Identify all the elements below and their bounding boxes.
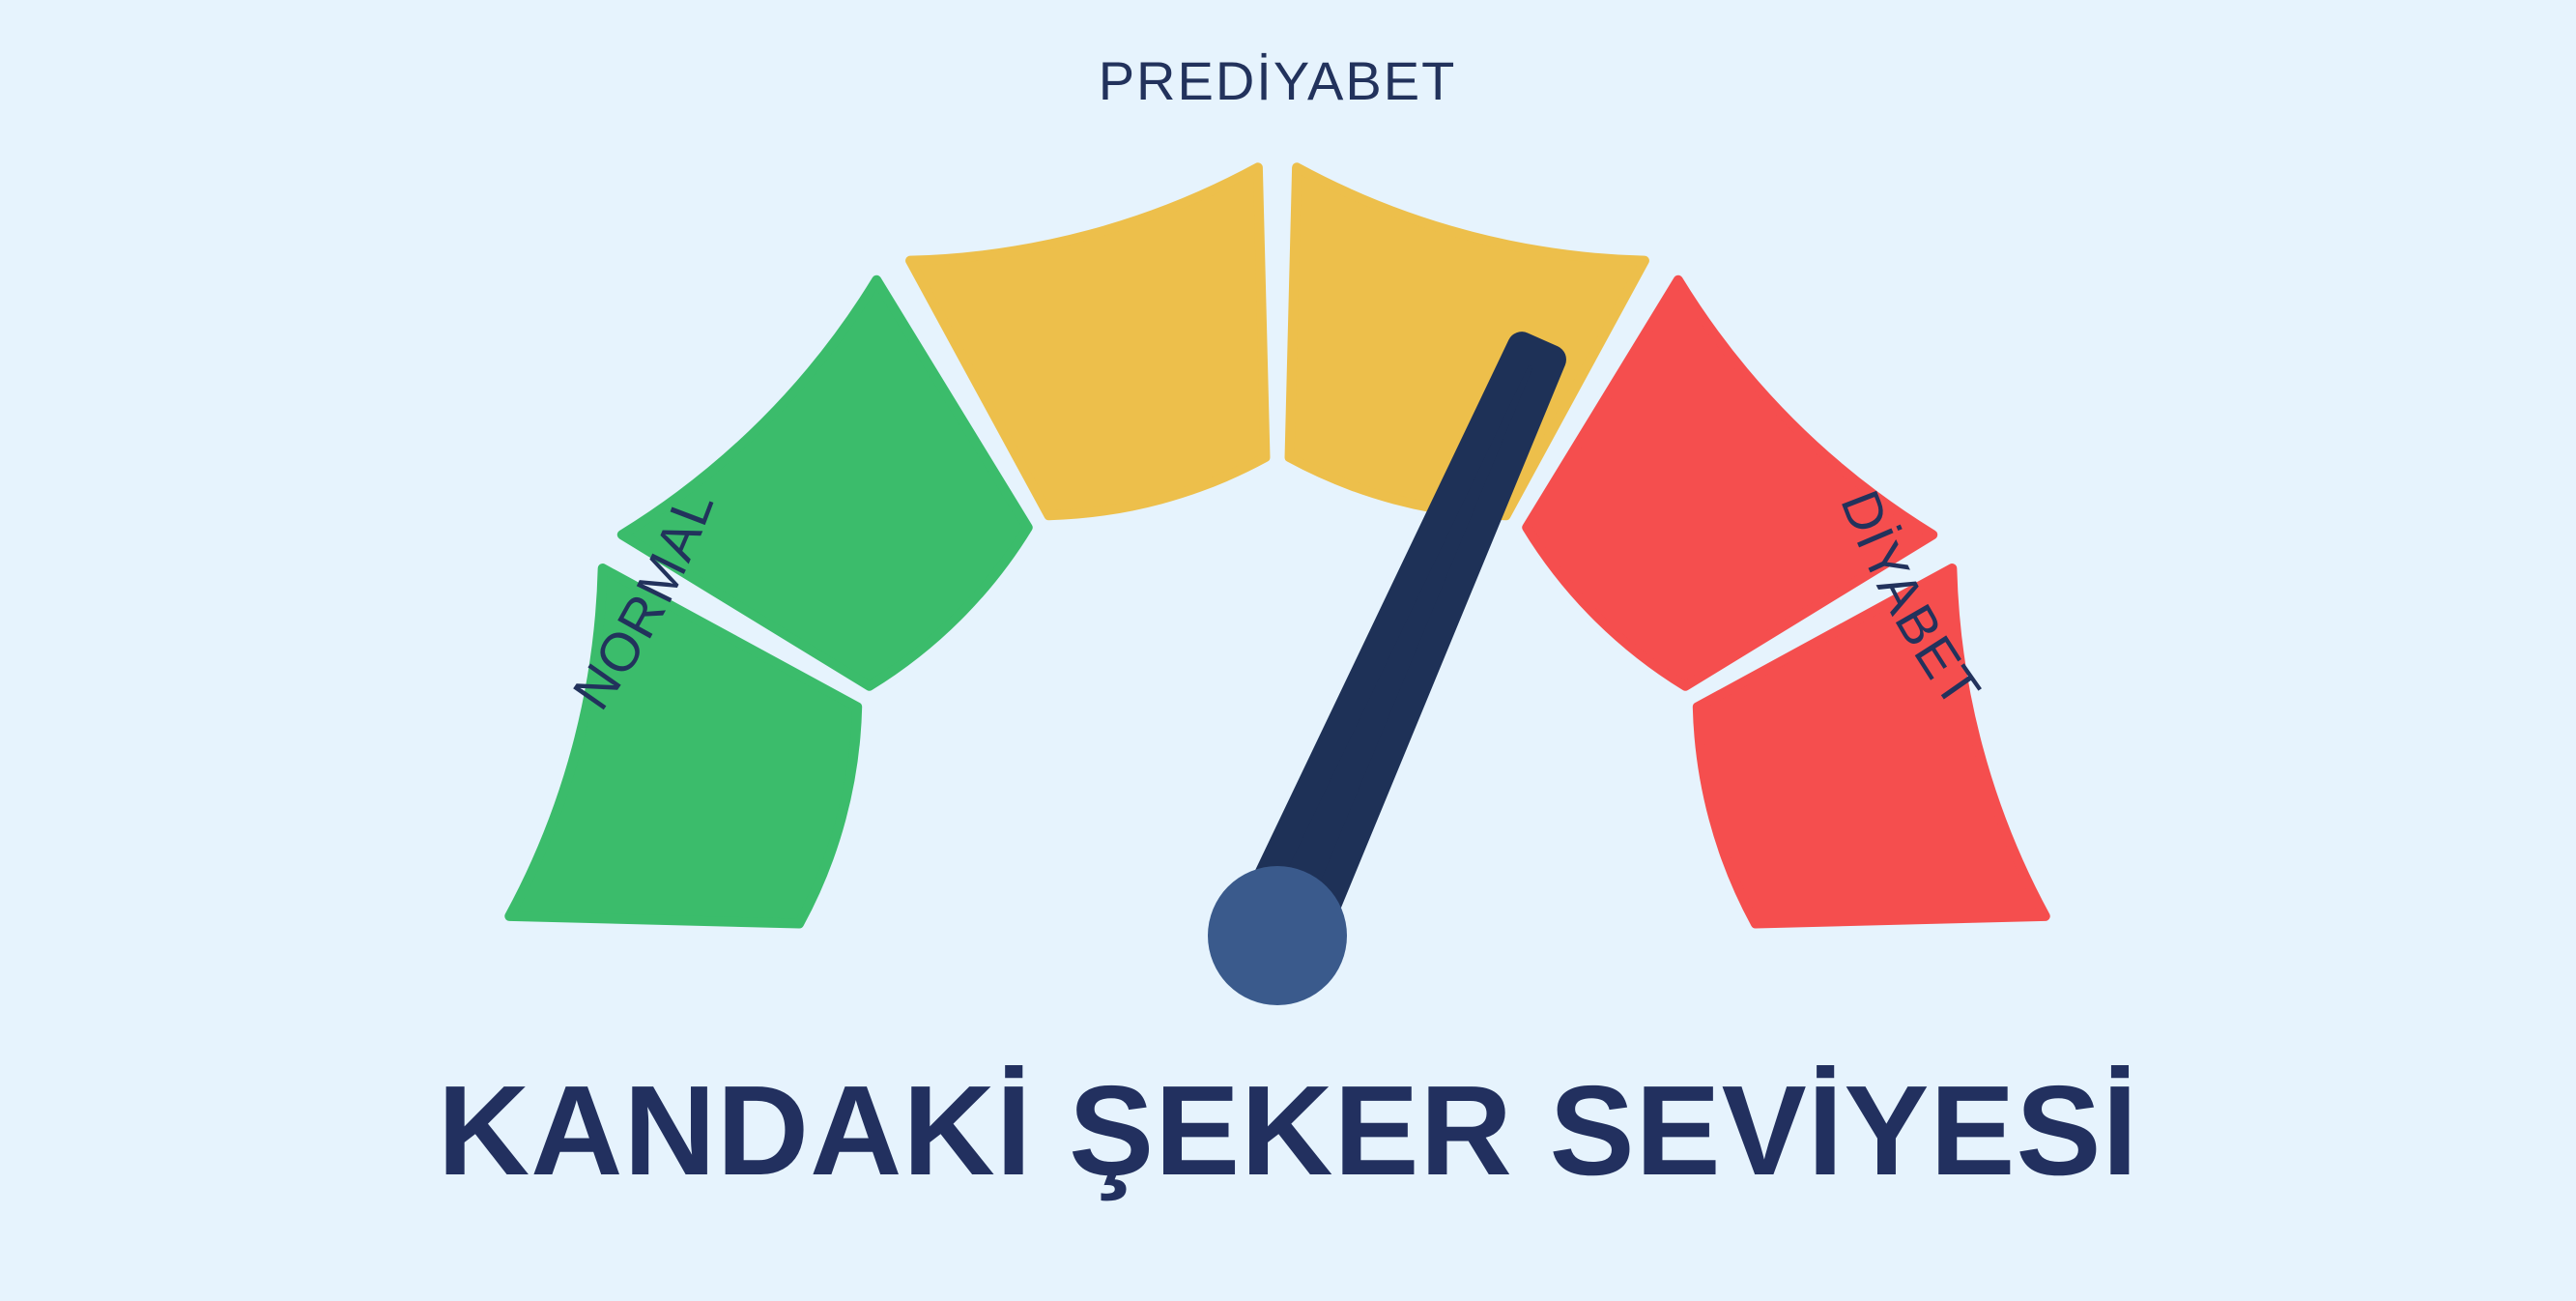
page-title: KANDAKİ ŞEKER SEVİYESİ <box>0 1067 2576 1195</box>
gauge-infographic: NORMAL PREDİYABET DİYABET KANDAKİ ŞEKER … <box>0 0 2576 1301</box>
needle-hub <box>1208 866 1347 1005</box>
gauge-segments <box>509 167 2045 923</box>
zone-label-prediyabet: PREDİYABET <box>1099 50 1457 111</box>
